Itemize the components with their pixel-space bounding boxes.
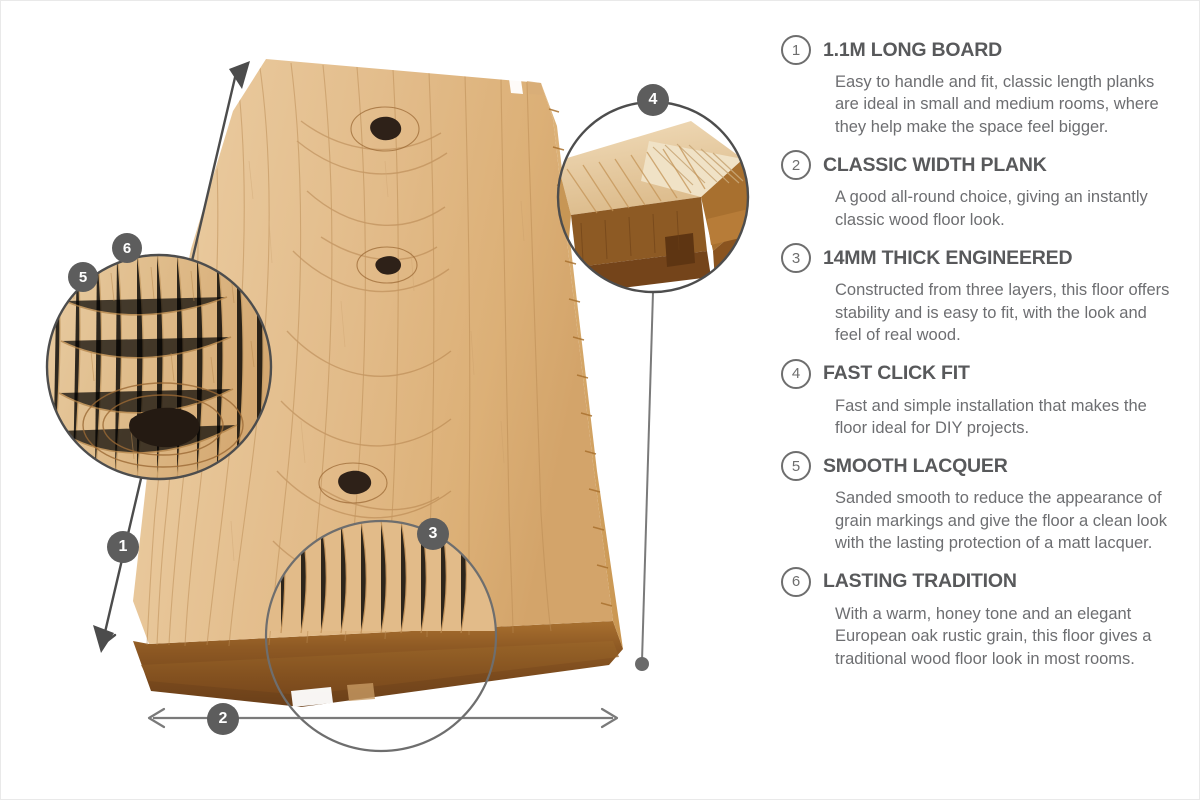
feature-item-2: 2 CLASSIC WIDTH PLANK A good all-round c… xyxy=(781,150,1181,231)
feature-item-5: 5 SMOOTH LACQUER Sanded smooth to reduce… xyxy=(781,451,1181,554)
feature-body-1: Easy to handle and fit, classic length p… xyxy=(835,71,1175,138)
pin-marker-4[interactable]: 4 xyxy=(637,84,669,116)
feature-title-5: SMOOTH LACQUER xyxy=(823,455,1008,478)
feature-body-4: Fast and simple installation that makes … xyxy=(835,395,1175,440)
feature-title-3: 14MM THICK ENGINEERED xyxy=(823,247,1072,270)
feature-title-4: FAST CLICK FIT xyxy=(823,362,970,385)
pin-marker-6[interactable]: 6 xyxy=(112,233,142,263)
feature-number-4: 4 xyxy=(781,359,811,389)
pin-marker-2[interactable]: 2 xyxy=(207,703,239,735)
feature-item-3: 3 14MM THICK ENGINEERED Constructed from… xyxy=(781,243,1181,346)
feature-item-4: 4 FAST CLICK FIT Fast and simple install… xyxy=(781,359,1181,440)
pin-marker-3[interactable]: 3 xyxy=(417,518,449,550)
feature-body-5: Sanded smooth to reduce the appearance o… xyxy=(835,487,1175,554)
feature-number-1: 1 xyxy=(781,35,811,65)
feature-body-6: With a warm, honey tone and an elegant E… xyxy=(835,603,1175,670)
feature-number-2: 2 xyxy=(781,150,811,180)
pin-marker-1[interactable]: 1 xyxy=(107,531,139,563)
feature-number-5: 5 xyxy=(781,451,811,481)
feature-heading-6: 6 LASTING TRADITION xyxy=(781,567,1181,597)
feature-number-3: 3 xyxy=(781,243,811,273)
feature-title-1: 1.1M LONG BOARD xyxy=(823,39,1002,62)
product-illustration: 1 2 3 4 5 6 xyxy=(1,1,771,800)
feature-number-6: 6 xyxy=(781,567,811,597)
infographic-canvas: 1 2 3 4 5 6 1 1.1M LONG BOARD Easy to ha… xyxy=(0,0,1200,800)
feature-body-3: Constructed from three layers, this floo… xyxy=(835,279,1175,346)
floorboard-diagram xyxy=(1,1,771,800)
feature-item-1: 1 1.1M LONG BOARD Easy to handle and fit… xyxy=(781,35,1181,138)
feature-list: 1 1.1M LONG BOARD Easy to handle and fit… xyxy=(781,35,1181,670)
feature-item-6: 6 LASTING TRADITION With a warm, honey t… xyxy=(781,567,1181,670)
feature-heading-3: 3 14MM THICK ENGINEERED xyxy=(781,243,1181,273)
feature-heading-5: 5 SMOOTH LACQUER xyxy=(781,451,1181,481)
feature-heading-4: 4 FAST CLICK FIT xyxy=(781,359,1181,389)
feature-title-2: CLASSIC WIDTH PLANK xyxy=(823,154,1047,177)
pin-marker-5[interactable]: 5 xyxy=(68,262,98,292)
feature-heading-1: 1 1.1M LONG BOARD xyxy=(781,35,1181,65)
feature-body-2: A good all-round choice, giving an insta… xyxy=(835,186,1175,231)
feature-title-6: LASTING TRADITION xyxy=(823,570,1017,593)
feature-heading-2: 2 CLASSIC WIDTH PLANK xyxy=(781,150,1181,180)
